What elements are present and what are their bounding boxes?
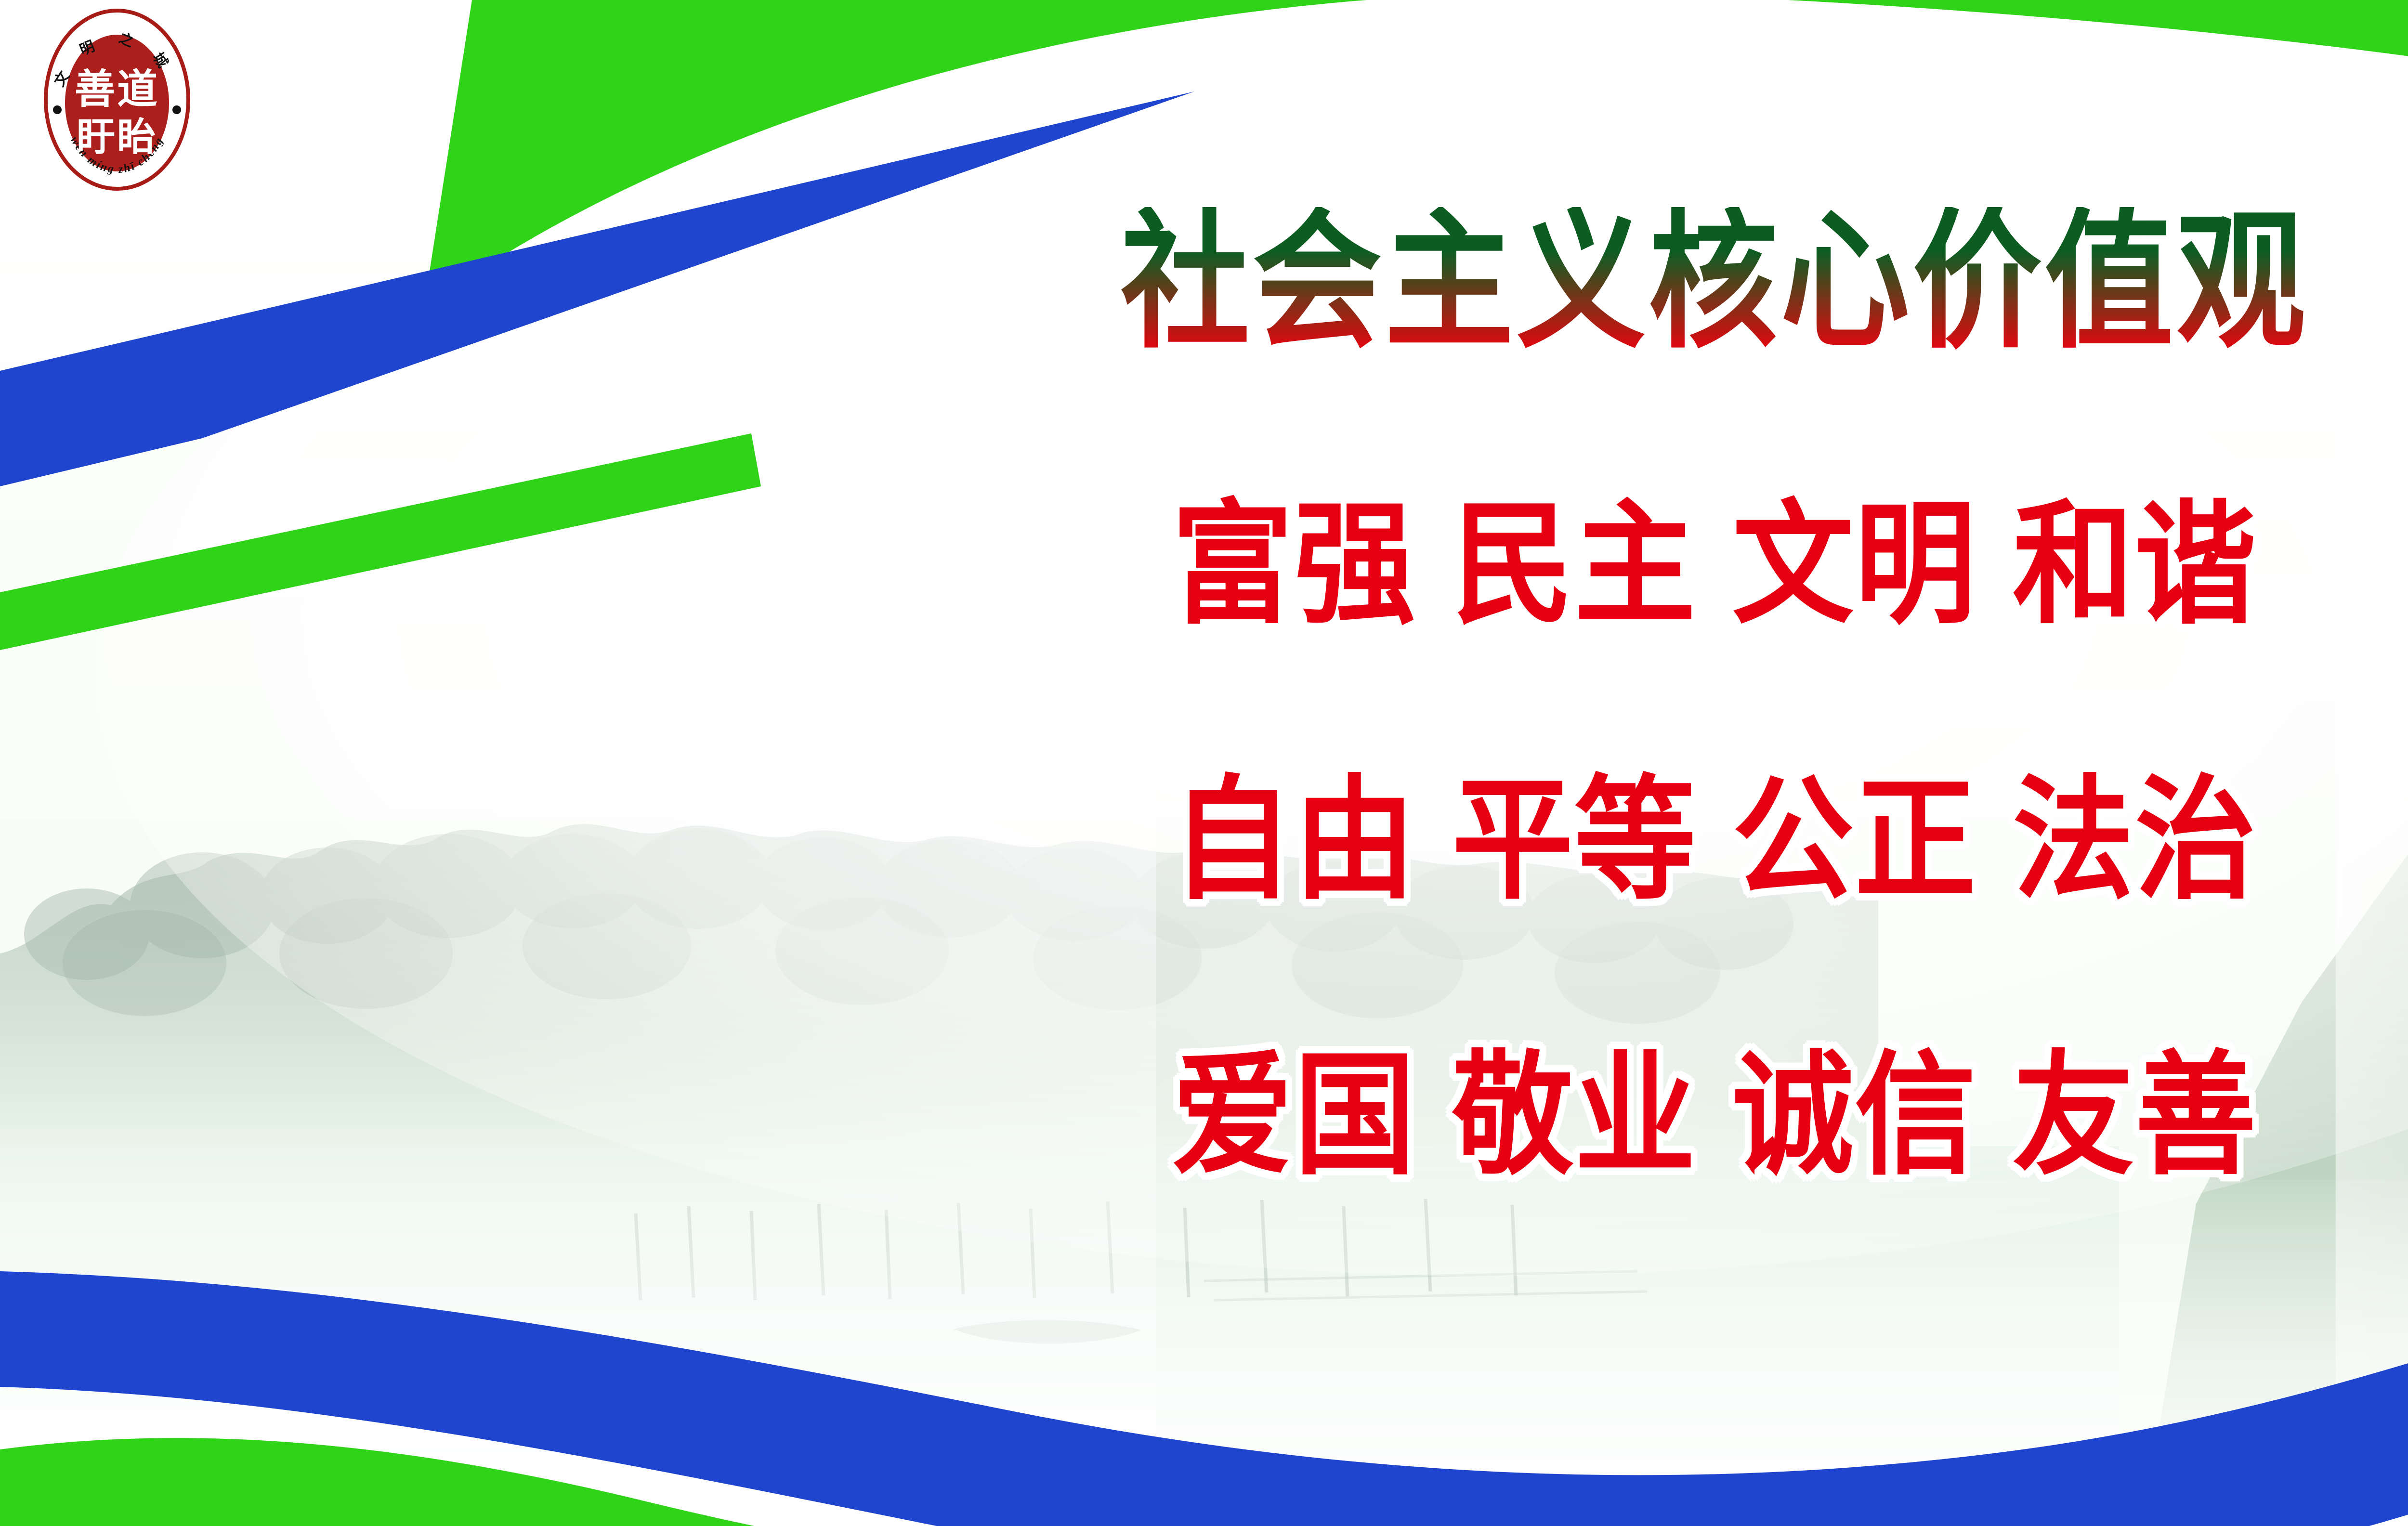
slogan-word: 民主 <box>1452 487 1697 642</box>
slogan-word: 富强 <box>1172 487 1416 642</box>
slogan-word: 公正 <box>1732 763 1977 918</box>
slogan-word: 自由 <box>1172 763 1416 918</box>
emblem-center-line1: 善道 <box>75 65 159 113</box>
emblem-dot-right <box>172 105 181 114</box>
page-title: 社会主义核心价值观 <box>797 207 2408 357</box>
core-values-block: 富强民主文明和谐 自由平等公正法治 爱国敬业诚信友善 <box>722 498 2408 1208</box>
slogan-word: 和谐 <box>2013 487 2257 642</box>
slogan-word: 友善 <box>2013 1038 2257 1193</box>
city-emblem: 文明之城 wén míng zhī chéng 善道 盱眙 <box>42 9 192 191</box>
slogan-word: 敬业 <box>1452 1038 1697 1193</box>
propaganda-banner: 文明之城 wén míng zhī chéng 善道 盱眙 社会主义核心价值观 … <box>0 0 2408 1526</box>
emblem-center-line2: 盱眙 <box>77 115 157 159</box>
slogan-line-3: 爱国敬业诚信友善 <box>722 1049 2408 1224</box>
slogan-line-1: 富强民主文明和谐 <box>722 498 2408 673</box>
slogan-line-2: 自由平等公正法治 <box>722 774 2408 949</box>
slogan-word: 平等 <box>1452 763 1697 918</box>
slogan-word: 爱国 <box>1172 1038 1416 1193</box>
slogan-word: 文明 <box>1732 487 1977 642</box>
emblem-dot-left <box>53 105 62 114</box>
slogan-word: 法治 <box>2013 763 2257 918</box>
slogan-word: 诚信 <box>1732 1038 1977 1193</box>
